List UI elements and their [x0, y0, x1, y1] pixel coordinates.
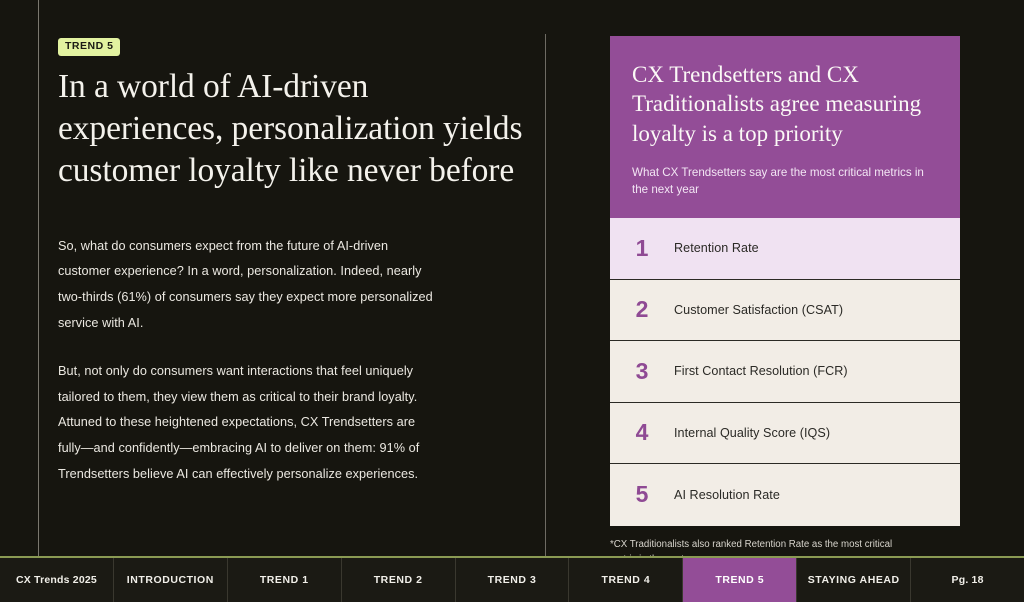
nav-item-trend-4[interactable]: TREND 4 [569, 558, 683, 602]
rank-label: Customer Satisfaction (CSAT) [674, 303, 843, 317]
nav-item-staying-ahead[interactable]: STAYING AHEAD [797, 558, 911, 602]
left-content-column: TREND 5 In a world of AI-driven experien… [58, 36, 528, 488]
rank-number: 1 [610, 235, 674, 262]
body-paragraph: But, not only do consumers want interact… [58, 359, 438, 488]
rank-label: Internal Quality Score (IQS) [674, 426, 830, 440]
nav-item-trend-5[interactable]: TREND 5 [683, 558, 797, 602]
rank-label: Retention Rate [674, 241, 759, 255]
column-divider [545, 34, 546, 558]
metrics-card-header: CX Trendsetters and CX Traditionalists a… [610, 36, 960, 218]
rank-number: 5 [610, 481, 674, 508]
bottom-navigation: CX Trends 2025 INTRODUCTION TREND 1 TREN… [0, 558, 1024, 602]
nav-item-trend-1[interactable]: TREND 1 [228, 558, 342, 602]
metrics-card-title: CX Trendsetters and CX Traditionalists a… [632, 60, 938, 148]
metrics-card-subtitle: What CX Trendsetters say are the most cr… [632, 165, 938, 198]
nav-page-number: Pg. 18 [911, 558, 1024, 602]
rank-number: 3 [610, 358, 674, 385]
nav-item-trend-3[interactable]: TREND 3 [456, 558, 570, 602]
metrics-rank-list: 1 Retention Rate 2 Customer Satisfaction… [610, 218, 960, 526]
list-item: 1 Retention Rate [610, 218, 960, 280]
body-copy: So, what do consumers expect from the fu… [58, 234, 438, 488]
rank-label: First Contact Resolution (FCR) [674, 364, 848, 378]
rank-number: 4 [610, 419, 674, 446]
list-item: 5 AI Resolution Rate [610, 464, 960, 526]
list-item: 2 Customer Satisfaction (CSAT) [610, 280, 960, 342]
trend-badge: TREND 5 [58, 38, 120, 56]
body-paragraph: So, what do consumers expect from the fu… [58, 234, 438, 337]
rank-label: AI Resolution Rate [674, 488, 780, 502]
rank-number: 2 [610, 296, 674, 323]
list-item: 3 First Contact Resolution (FCR) [610, 341, 960, 403]
nav-item-introduction[interactable]: INTRODUCTION [114, 558, 228, 602]
left-margin-divider [38, 0, 39, 558]
page-title: In a world of AI-driven experiences, per… [58, 66, 538, 192]
list-item: 4 Internal Quality Score (IQS) [610, 403, 960, 465]
nav-item-cx-trends-2025[interactable]: CX Trends 2025 [0, 558, 114, 602]
nav-item-trend-2[interactable]: TREND 2 [342, 558, 456, 602]
metrics-card: CX Trendsetters and CX Traditionalists a… [610, 36, 960, 567]
slide-canvas: TREND 5 In a world of AI-driven experien… [0, 0, 1024, 602]
